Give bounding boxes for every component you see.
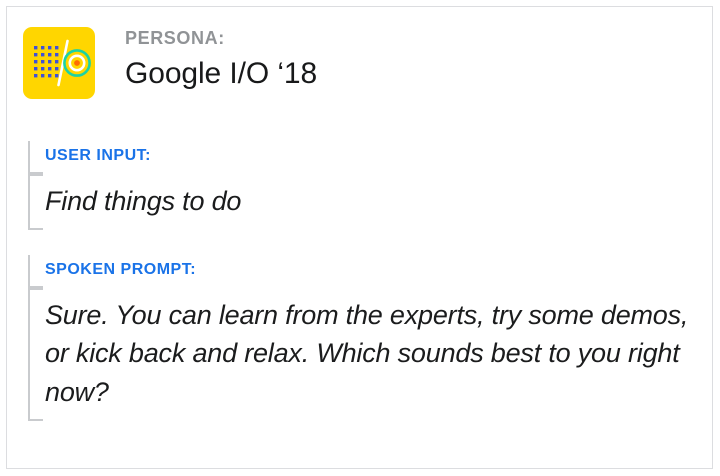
bracket-icon: [23, 255, 43, 288]
bracket-icon: [23, 174, 43, 230]
bracket-icon: [23, 141, 43, 174]
user-input-label: USER INPUT:: [45, 147, 151, 164]
user-input-body-row: Find things to do: [23, 174, 692, 230]
spoken-prompt-label: SPOKEN PROMPT:: [45, 261, 196, 278]
spoken-prompt-text: Sure. You can learn from the experts, tr…: [45, 296, 692, 411]
bracket-icon: [23, 288, 43, 421]
persona-value: Google I/O ‘18: [125, 57, 317, 91]
spoken-prompt-body-row: Sure. You can learn from the experts, tr…: [23, 288, 692, 421]
google-io-logo: [23, 27, 95, 99]
persona-header-text: PERSONA: Google I/O ‘18: [125, 27, 317, 91]
persona-label: PERSONA:: [125, 29, 317, 47]
google-io-logo-icon: [23, 27, 95, 99]
persona-header: PERSONA: Google I/O ‘18: [23, 27, 317, 99]
section-user-input: USER INPUT: Find things to do: [23, 141, 692, 230]
section-spoken-prompt: SPOKEN PROMPT: Sure. You can learn from …: [23, 255, 692, 421]
spoken-prompt-label-row: SPOKEN PROMPT:: [23, 255, 692, 288]
user-input-text: Find things to do: [45, 182, 692, 220]
screenshot-root: PERSONA: Google I/O ‘18 USER INPUT: Fin: [0, 0, 720, 476]
persona-card: PERSONA: Google I/O ‘18 USER INPUT: Fin: [6, 6, 713, 469]
user-input-label-row: USER INPUT:: [23, 141, 692, 174]
